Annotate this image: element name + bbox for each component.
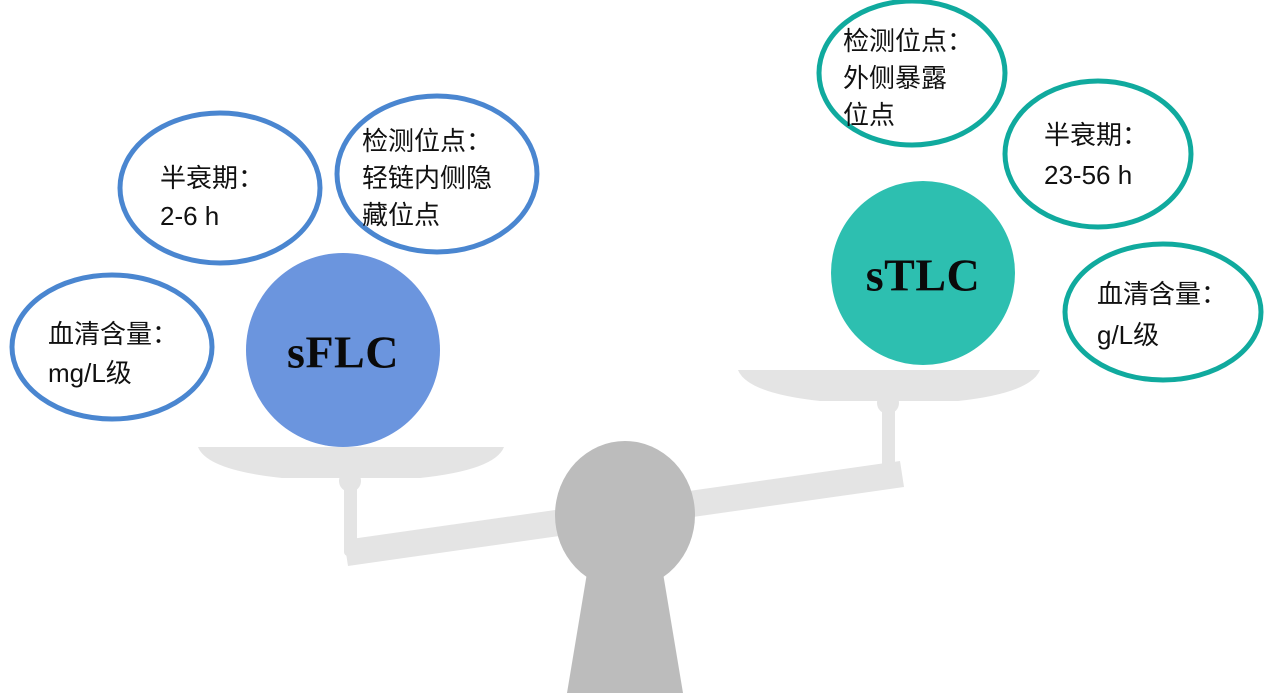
left-bubble-detection-site-line-2: 藏位点	[362, 200, 440, 230]
left-bubble-half-life[interactable]: 半衰期： 2-6 h	[120, 113, 320, 263]
stlc-node[interactable]: sTLC	[831, 181, 1015, 365]
left-bubble-detection-site-line-1: 轻链内侧隐	[362, 163, 492, 193]
scale-fulcrum	[555, 441, 695, 693]
stlc-node-label: sTLC	[866, 250, 980, 301]
left-bubble-detection-site-line-0: 检测位点：	[362, 126, 492, 156]
right-bubble-serum-level-line-1: g/L级	[1097, 320, 1159, 350]
sflc-node[interactable]: sFLC	[246, 253, 440, 447]
right-bubble-half-life-line-0: 半衰期：	[1044, 120, 1148, 150]
left-bubble-half-life-line-1: 2-6 h	[160, 201, 219, 231]
left-group-sflc: 半衰期： 2-6 h 检测位点： 轻链内侧隐 藏位点 血清含量： mg/L级 s…	[12, 96, 537, 447]
right-pan	[738, 370, 1040, 401]
left-bubble-serum-level-line-0: 血清含量：	[48, 319, 178, 349]
diagram-canvas: 半衰期： 2-6 h 检测位点： 轻链内侧隐 藏位点 血清含量： mg/L级 s…	[0, 0, 1275, 693]
right-bubble-detection-site-line-0: 检测位点：	[843, 26, 973, 56]
left-bubble-serum-level-line-1: mg/L级	[48, 358, 132, 388]
left-bubble-serum-level[interactable]: 血清含量： mg/L级	[12, 275, 212, 419]
left-bubble-half-life-line-0: 半衰期：	[160, 163, 264, 193]
right-bubble-half-life[interactable]: 半衰期： 23-56 h	[1005, 81, 1191, 227]
balance-comparison-diagram: 半衰期： 2-6 h 检测位点： 轻链内侧隐 藏位点 血清含量： mg/L级 s…	[0, 0, 1275, 693]
right-group-stlc: 检测位点： 外侧暴露 位点 半衰期： 23-56 h 血清含量： g/L级 sT…	[819, 1, 1261, 380]
right-bubble-serum-level-line-0: 血清含量：	[1097, 279, 1227, 309]
right-bubble-half-life-line-1: 23-56 h	[1044, 160, 1132, 190]
right-bubble-detection-site-line-2: 位点	[843, 100, 895, 130]
right-bubble-serum-level[interactable]: 血清含量： g/L级	[1065, 244, 1261, 380]
left-bubble-detection-site[interactable]: 检测位点： 轻链内侧隐 藏位点	[337, 96, 537, 252]
right-bubble-detection-site-line-1: 外侧暴露	[843, 63, 947, 93]
right-bubble-detection-site[interactable]: 检测位点： 外侧暴露 位点	[819, 1, 1005, 145]
left-pan	[198, 447, 504, 478]
sflc-node-label: sFLC	[287, 327, 399, 378]
